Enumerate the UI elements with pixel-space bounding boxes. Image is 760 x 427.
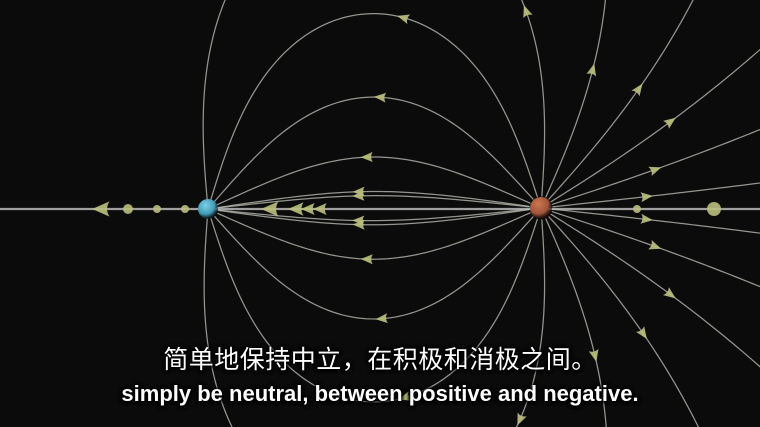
field-arrow — [513, 412, 527, 427]
axis-dot — [181, 205, 189, 213]
axis-dot — [707, 202, 721, 216]
field-arrow — [374, 92, 387, 103]
field-arrow — [648, 240, 663, 253]
arrow-head — [396, 11, 410, 24]
arrow-head — [648, 240, 663, 253]
axis-dot — [123, 204, 133, 214]
arrow-head — [631, 81, 646, 97]
arrow-head — [589, 349, 601, 363]
field-arrow — [360, 152, 372, 162]
field-line — [211, 219, 537, 402]
field-arrow-group — [352, 3, 679, 427]
field-arrow — [589, 349, 601, 363]
field-arrow — [636, 326, 651, 342]
arrow-head — [397, 391, 411, 404]
field-line — [214, 97, 533, 202]
axis-arrow — [301, 203, 315, 215]
field-line-group — [203, 0, 760, 427]
arrow-head — [301, 203, 315, 215]
field-arrow — [663, 114, 679, 129]
field-arrow — [397, 391, 411, 404]
axis-dot — [153, 205, 161, 213]
field-line — [218, 213, 530, 259]
arrow-head — [513, 412, 527, 427]
field-arrow — [375, 313, 388, 324]
axis-arrow — [313, 203, 327, 215]
field-arrow — [519, 3, 532, 18]
field-arrow — [631, 81, 646, 97]
field-line — [218, 209, 529, 220]
field-arrow — [361, 254, 373, 264]
field-arrow — [663, 287, 679, 302]
field-line — [219, 210, 529, 225]
arrow-head — [648, 163, 663, 176]
field-line — [546, 219, 608, 427]
arrow-head — [586, 62, 599, 76]
electric-field-diagram — [0, 0, 760, 427]
arrow-head — [519, 3, 532, 18]
field-line — [218, 196, 529, 208]
arrow-head — [663, 287, 679, 302]
field-arrow — [648, 163, 663, 176]
negative-charge[interactable] — [198, 199, 218, 219]
arrow-head — [374, 92, 387, 103]
field-arrow — [586, 62, 599, 76]
arrow-head — [313, 203, 327, 215]
axis-arrow — [92, 201, 110, 216]
video-frame: 简单地保持中立，在积极和消极之间。 simply be neutral, bet… — [0, 0, 760, 427]
axis-dot — [633, 205, 641, 213]
field-line — [217, 192, 529, 208]
field-line — [211, 14, 538, 200]
arrow-head — [375, 313, 388, 324]
field-line — [552, 68, 760, 205]
arrow-head — [663, 114, 679, 129]
arrow-head — [360, 152, 372, 162]
positive-charge[interactable] — [530, 197, 552, 219]
field-line — [217, 157, 530, 205]
arrow-head — [361, 254, 373, 264]
field-line — [552, 212, 760, 349]
field-line — [203, 0, 544, 200]
arrow-head — [636, 326, 651, 342]
field-arrow — [396, 11, 410, 24]
arrow-head — [92, 201, 110, 216]
